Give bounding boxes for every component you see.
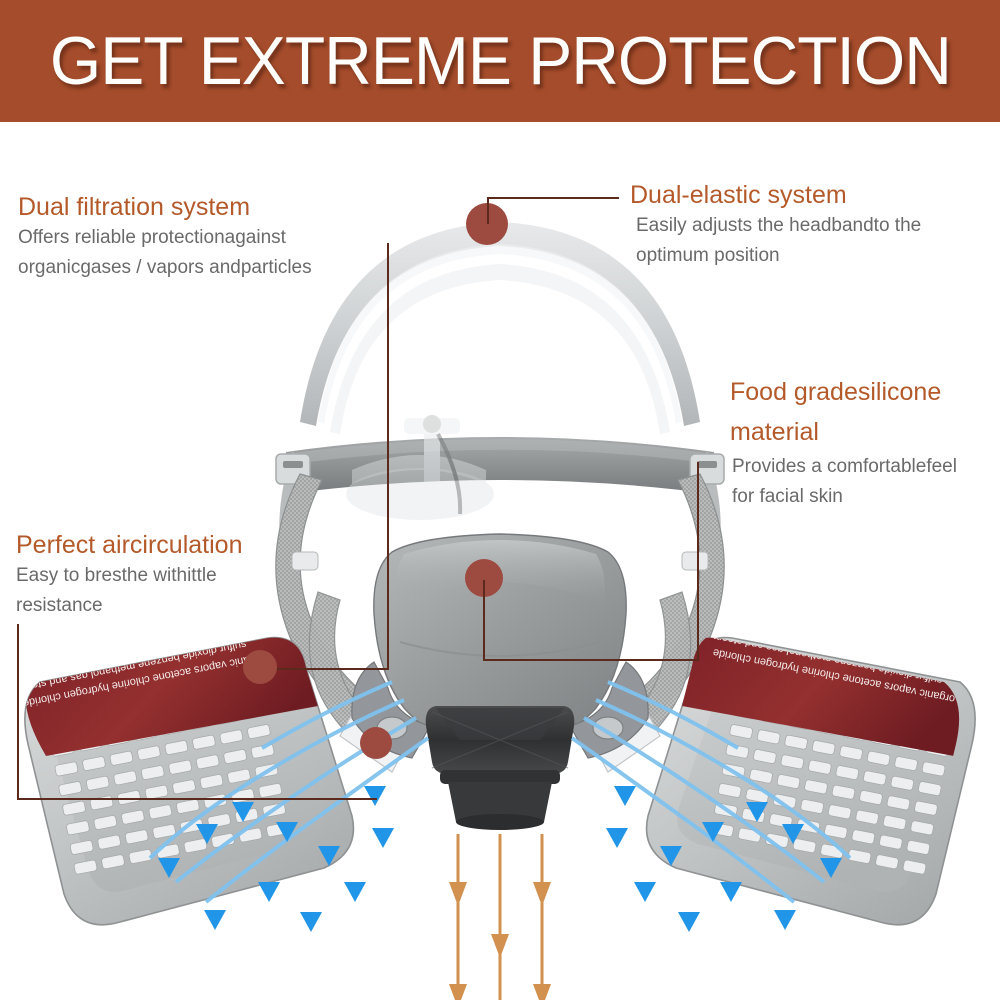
airflow-exhale: [458, 834, 542, 1000]
leader-dual-elastic-horizontal: [487, 197, 619, 199]
callout-body-line-2: optimum position: [630, 241, 921, 271]
callout-title-dual-filtration: Dual filtration system: [18, 192, 312, 223]
filter-cartridge-left: organic vapors acetone chlorine hydrogen…: [16, 632, 354, 925]
leader-mask-body-stem: [483, 580, 485, 660]
page-title: GET EXTREME PROTECTION: [50, 27, 951, 95]
callout-title-dual-elastic: Dual-elastic system: [630, 180, 921, 211]
callout-body-line-2: resistance: [16, 591, 242, 621]
callout-food-grade: Food gradesilicone material Provides a c…: [730, 372, 957, 512]
leader-mask-body-horizontal: [483, 659, 698, 661]
callout-perfect-air: Perfect aircirculation Easy to bresthe w…: [16, 530, 242, 621]
exhalation-valve: [426, 706, 575, 830]
callout-body-line-1: Offers reliable protectionagainst: [18, 223, 312, 253]
marker-dot-perfect-air: [360, 727, 392, 759]
header-banner: GET EXTREME PROTECTION: [0, 0, 1000, 122]
leader-dual-elastic-stem: [487, 198, 489, 224]
leader-perfect-air-horizontal: [17, 798, 377, 800]
leader-dual-filtration-vertical: [387, 243, 389, 670]
callout-title-food-grade-line-2: material: [730, 412, 957, 452]
marker-dot-dual-filtration: [243, 650, 277, 684]
callout-body-line-1: Easy to bresthe withittle: [16, 561, 242, 591]
callout-dual-filtration: Dual filtration system Offers reliable p…: [18, 192, 312, 283]
leader-perfect-air-vertical: [17, 624, 19, 800]
callout-body-line-1: Easily adjusts the headbandto the: [630, 211, 921, 241]
callout-body-line-1: Provides a comfortablefeel: [730, 452, 957, 482]
filter-cartridge-right: organic vapors acetone chlorine hydrogen…: [647, 630, 976, 925]
callout-title-perfect-air: Perfect aircirculation: [16, 530, 242, 561]
leader-dual-filtration-horizontal: [258, 668, 389, 670]
leader-food-grade-vertical: [697, 462, 699, 660]
callout-title-food-grade-line-1: Food gradesilicone: [730, 372, 957, 412]
inner-frame: [346, 415, 494, 520]
callout-dual-elastic: Dual-elastic system Easily adjusts the h…: [630, 180, 921, 271]
callout-body-line-2: for facial skin: [730, 482, 957, 512]
infographic-page: GET EXTREME PROTECTION: [0, 0, 1000, 1000]
callout-body-line-2: organicgases / vapors andparticles: [18, 253, 312, 283]
